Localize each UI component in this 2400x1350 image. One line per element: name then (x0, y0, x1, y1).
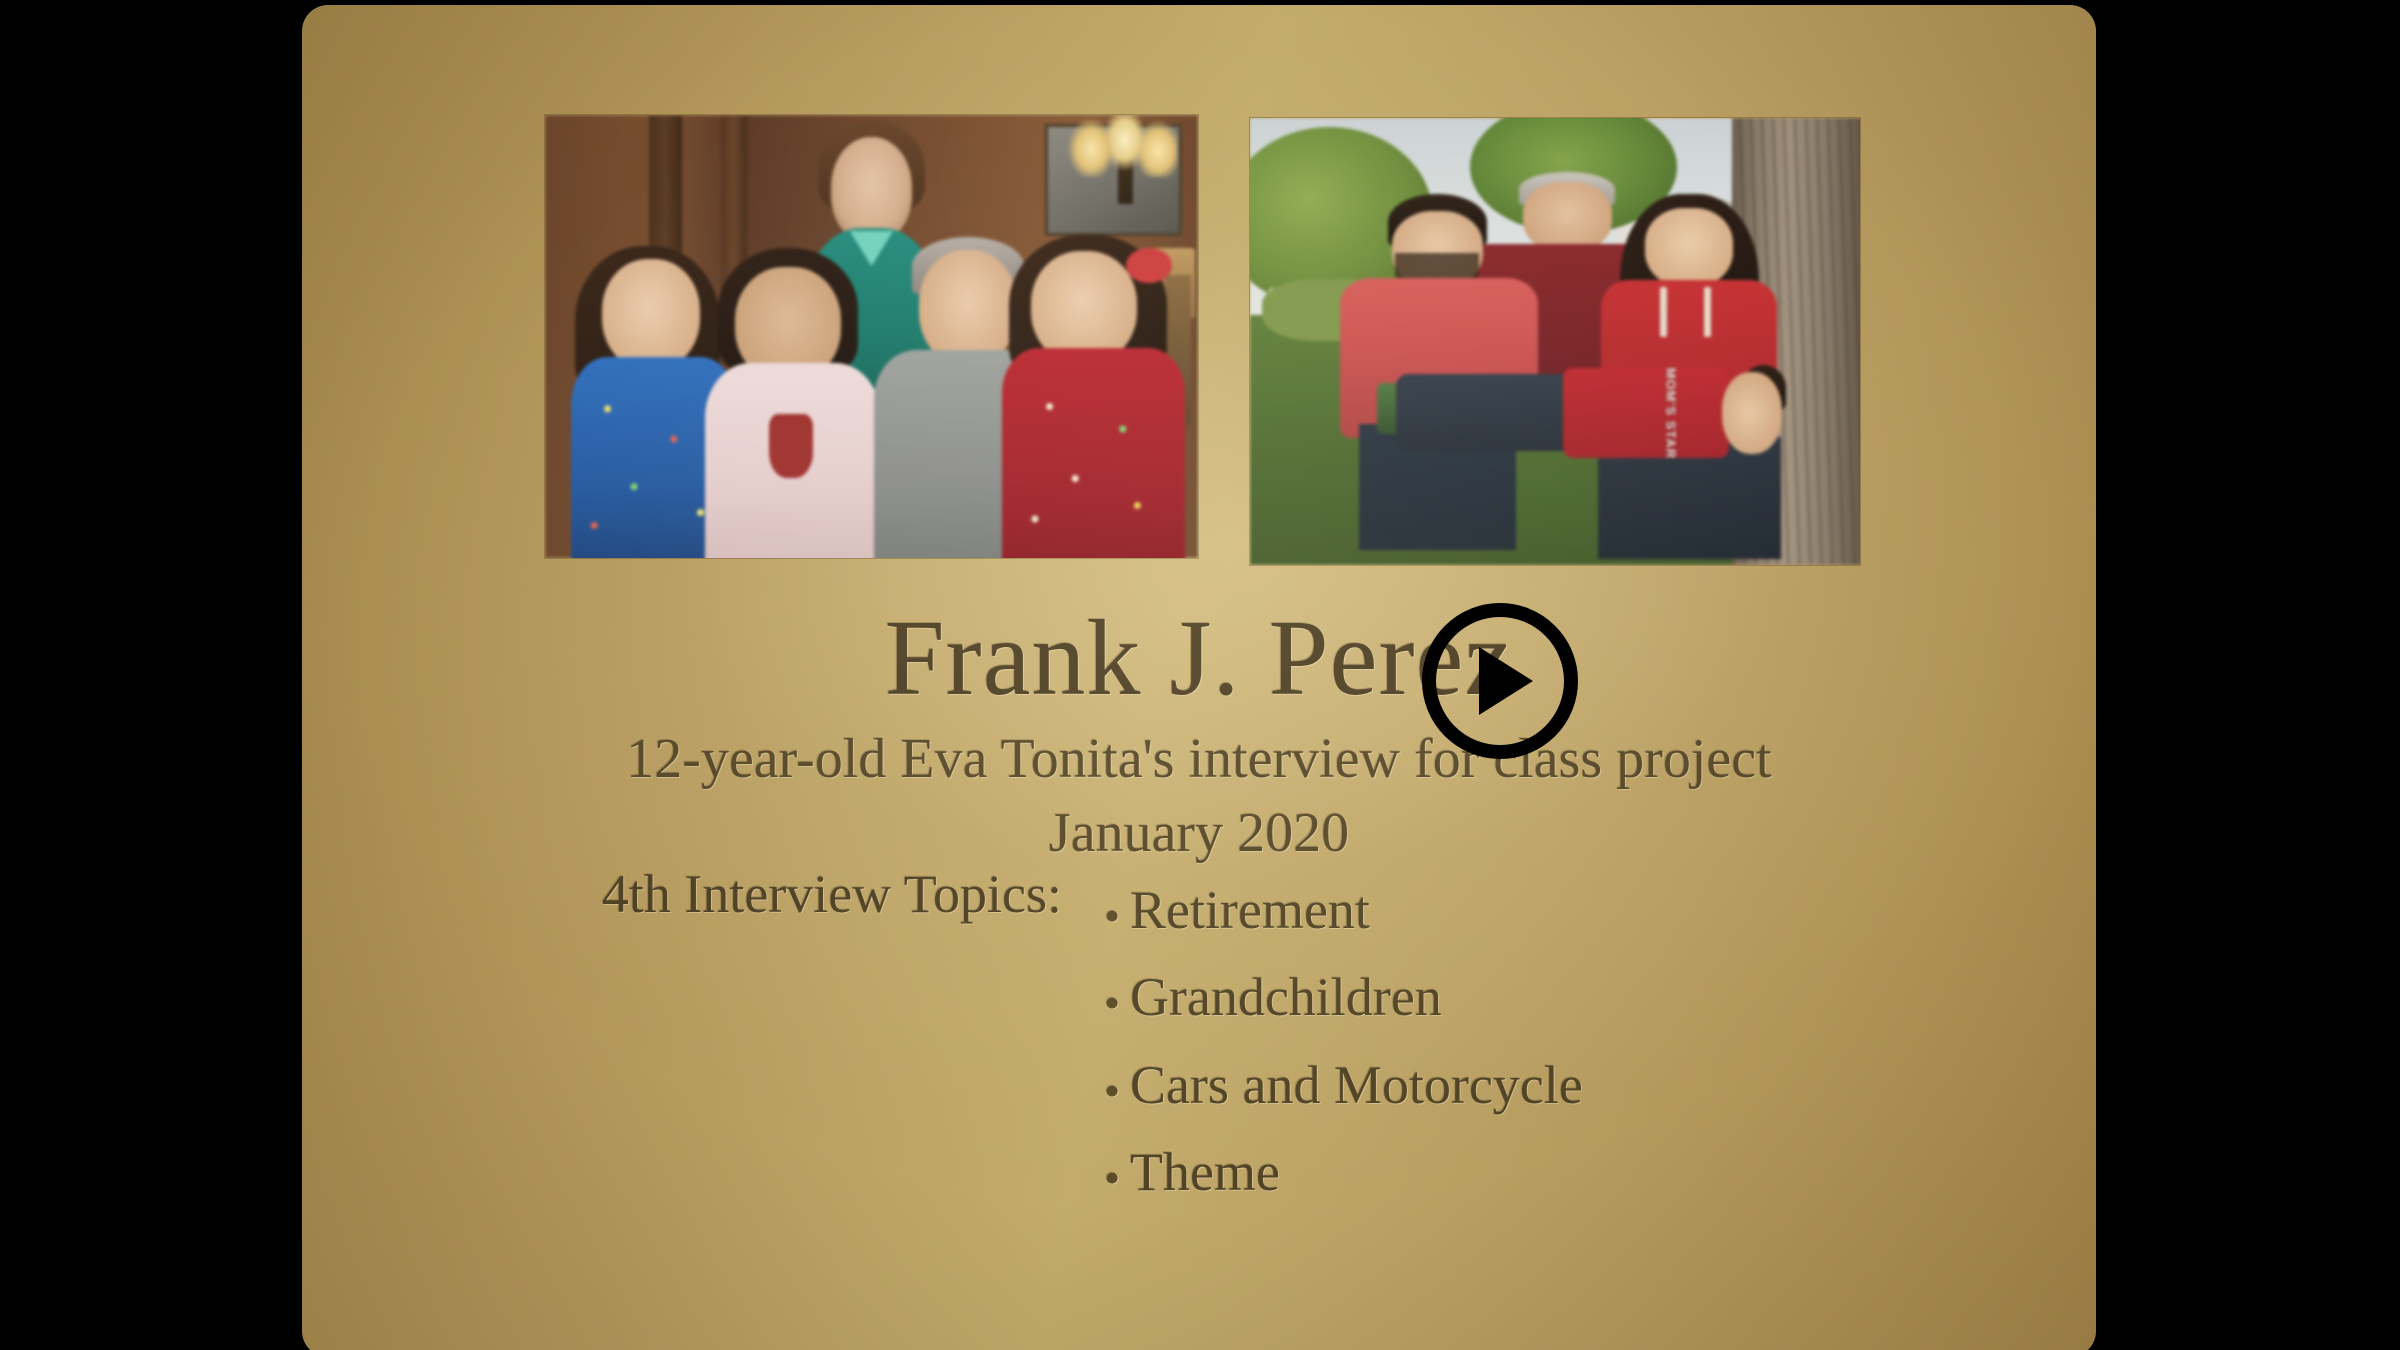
shirt-text: MOM'S STAR (1641, 388, 1702, 438)
torso (1002, 348, 1185, 558)
bullet-icon: • (1104, 1068, 1130, 1114)
list-item: •Retirement (1104, 867, 1583, 954)
play-button[interactable] (1422, 603, 1578, 759)
head (1722, 372, 1783, 454)
bullet-icon: • (1104, 980, 1130, 1026)
list-item: •Theme (1104, 1129, 1583, 1216)
topic-label: Theme (1130, 1142, 1280, 1202)
shirt: MOM'S STAR (1563, 368, 1729, 457)
person-grandmother-pink (708, 248, 878, 558)
head (602, 259, 700, 370)
topics-label: 4th Interview Topics: (302, 867, 1062, 921)
topics-section: 4th Interview Topics: •Retirement •Grand… (302, 867, 2096, 1217)
hoodie-drawstring-left (1660, 287, 1667, 337)
head (1645, 208, 1733, 287)
hair-bow (1126, 248, 1172, 283)
play-triangle-icon (1479, 647, 1533, 715)
undershirt (769, 414, 813, 478)
subtitle: 12-year-old Eva Tonita's interview for c… (574, 723, 1824, 871)
topics-list: •Retirement •Grandchildren •Cars and Mot… (1062, 867, 1583, 1217)
photo-content-outdoor: MOM'S STAR (1250, 118, 1860, 565)
topic-label: Retirement (1130, 880, 1370, 940)
head (831, 137, 912, 241)
pants (1396, 374, 1578, 451)
hoodie-drawstring-right (1704, 287, 1711, 337)
person-child-held: MOM'S STAR (1396, 368, 1774, 457)
chandelier-icon (1067, 115, 1178, 177)
list-item: •Cars and Motorcycle (1104, 1042, 1583, 1129)
video-slide-frame[interactable]: MOM'S STAR Frank J. Perez 12-year-old Ev… (302, 5, 2096, 1350)
bullet-icon: • (1104, 1155, 1130, 1201)
topic-label: Grandchildren (1130, 967, 1442, 1027)
photo-content-indoor (545, 115, 1198, 558)
video-player-stage: MOM'S STAR Frank J. Perez 12-year-old Ev… (0, 0, 2400, 1350)
page-title: Frank J. Perez (302, 605, 2096, 713)
bullet-icon: • (1104, 893, 1130, 939)
family-photo-indoor (545, 115, 1198, 558)
list-item: •Grandchildren (1104, 954, 1583, 1041)
person-girl-red-pajamas (1002, 235, 1185, 558)
topic-label: Cars and Motorcycle (1130, 1055, 1583, 1115)
family-photo-outdoor: MOM'S STAR (1250, 118, 1860, 565)
